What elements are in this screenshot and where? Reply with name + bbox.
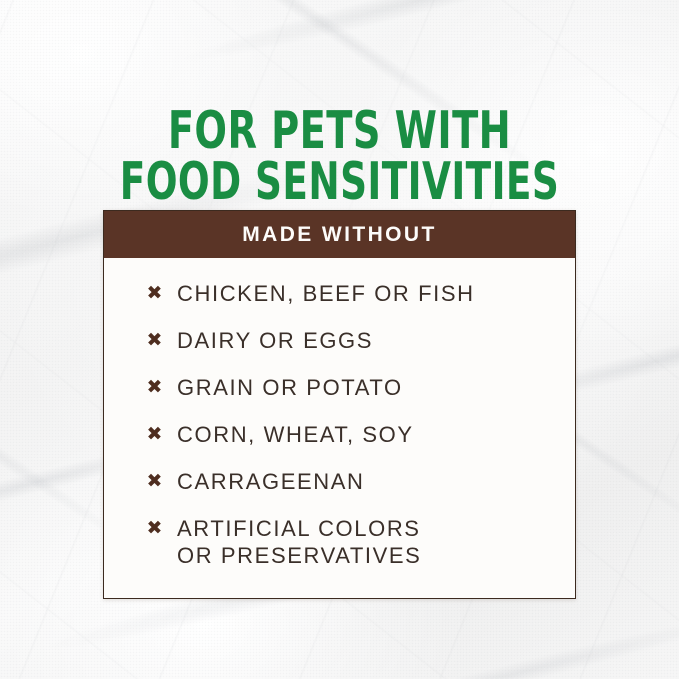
x-mark-icon: ✖ <box>145 280 164 307</box>
x-mark-icon: ✖ <box>145 374 164 401</box>
card-header-title: MADE WITHOUT <box>242 224 436 245</box>
list-item-label: ARTIFICIAL COLORS OR PRESERVATIVES <box>177 515 421 569</box>
list-item-label: CHICKEN, BEEF OR FISH <box>177 280 475 307</box>
list-item-label: CORN, WHEAT, SOY <box>177 421 414 448</box>
x-mark-icon: ✖ <box>145 421 164 448</box>
list-item-label: DAIRY OR EGGS <box>177 327 373 354</box>
page-title: FOR PETS WITH FOOD SENSITIVITIES <box>0 107 679 206</box>
list-item-label: CARRAGEENAN <box>177 468 365 495</box>
card-header: MADE WITHOUT <box>104 211 575 258</box>
list-item: ✖ CARRAGEENAN <box>104 468 575 495</box>
list-item: ✖ ARTIFICIAL COLORS OR PRESERVATIVES <box>104 515 575 569</box>
list-item: ✖ GRAIN OR POTATO <box>104 374 575 401</box>
list-item: ✖ CORN, WHEAT, SOY <box>104 421 575 448</box>
list-item-label: GRAIN OR POTATO <box>177 374 403 401</box>
x-mark-icon: ✖ <box>145 515 164 542</box>
excluded-ingredients-list: ✖ CHICKEN, BEEF OR FISH ✖ DAIRY OR EGGS … <box>104 280 575 569</box>
x-mark-icon: ✖ <box>145 468 164 495</box>
product-claim-panel: FOR PETS WITH FOOD SENSITIVITIES MADE WI… <box>0 0 679 679</box>
list-item: ✖ CHICKEN, BEEF OR FISH <box>104 280 575 307</box>
x-mark-icon: ✖ <box>145 327 164 354</box>
page-title-line-2: FOOD SENSITIVITIES <box>68 158 611 206</box>
list-item: ✖ DAIRY OR EGGS <box>104 327 575 354</box>
made-without-card: MADE WITHOUT ✖ CHICKEN, BEEF OR FISH ✖ D… <box>103 210 576 599</box>
page-title-line-1: FOR PETS WITH <box>61 107 618 155</box>
card-body: ✖ CHICKEN, BEEF OR FISH ✖ DAIRY OR EGGS … <box>104 258 575 569</box>
